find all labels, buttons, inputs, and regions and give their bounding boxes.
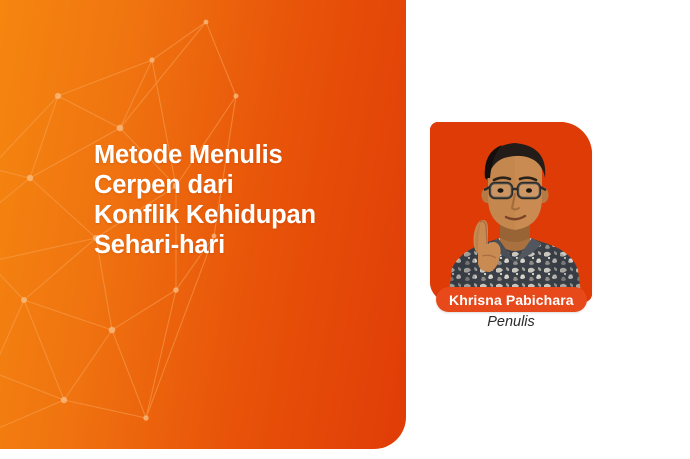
presentation-slide: Metode Menulis Cerpen dari Konflik Kehid…	[0, 0, 690, 459]
orange-gradient-panel: Metode Menulis Cerpen dari Konflik Kehid…	[0, 0, 406, 449]
speaker-photo-card	[430, 122, 592, 302]
speaker-role-label: Penulis	[430, 314, 592, 330]
speaker-name-badge: Khrisna Pabichara	[436, 287, 587, 312]
page-title: Metode Menulis Cerpen dari Konflik Kehid…	[94, 140, 394, 260]
speaker-portrait-image	[430, 122, 592, 302]
